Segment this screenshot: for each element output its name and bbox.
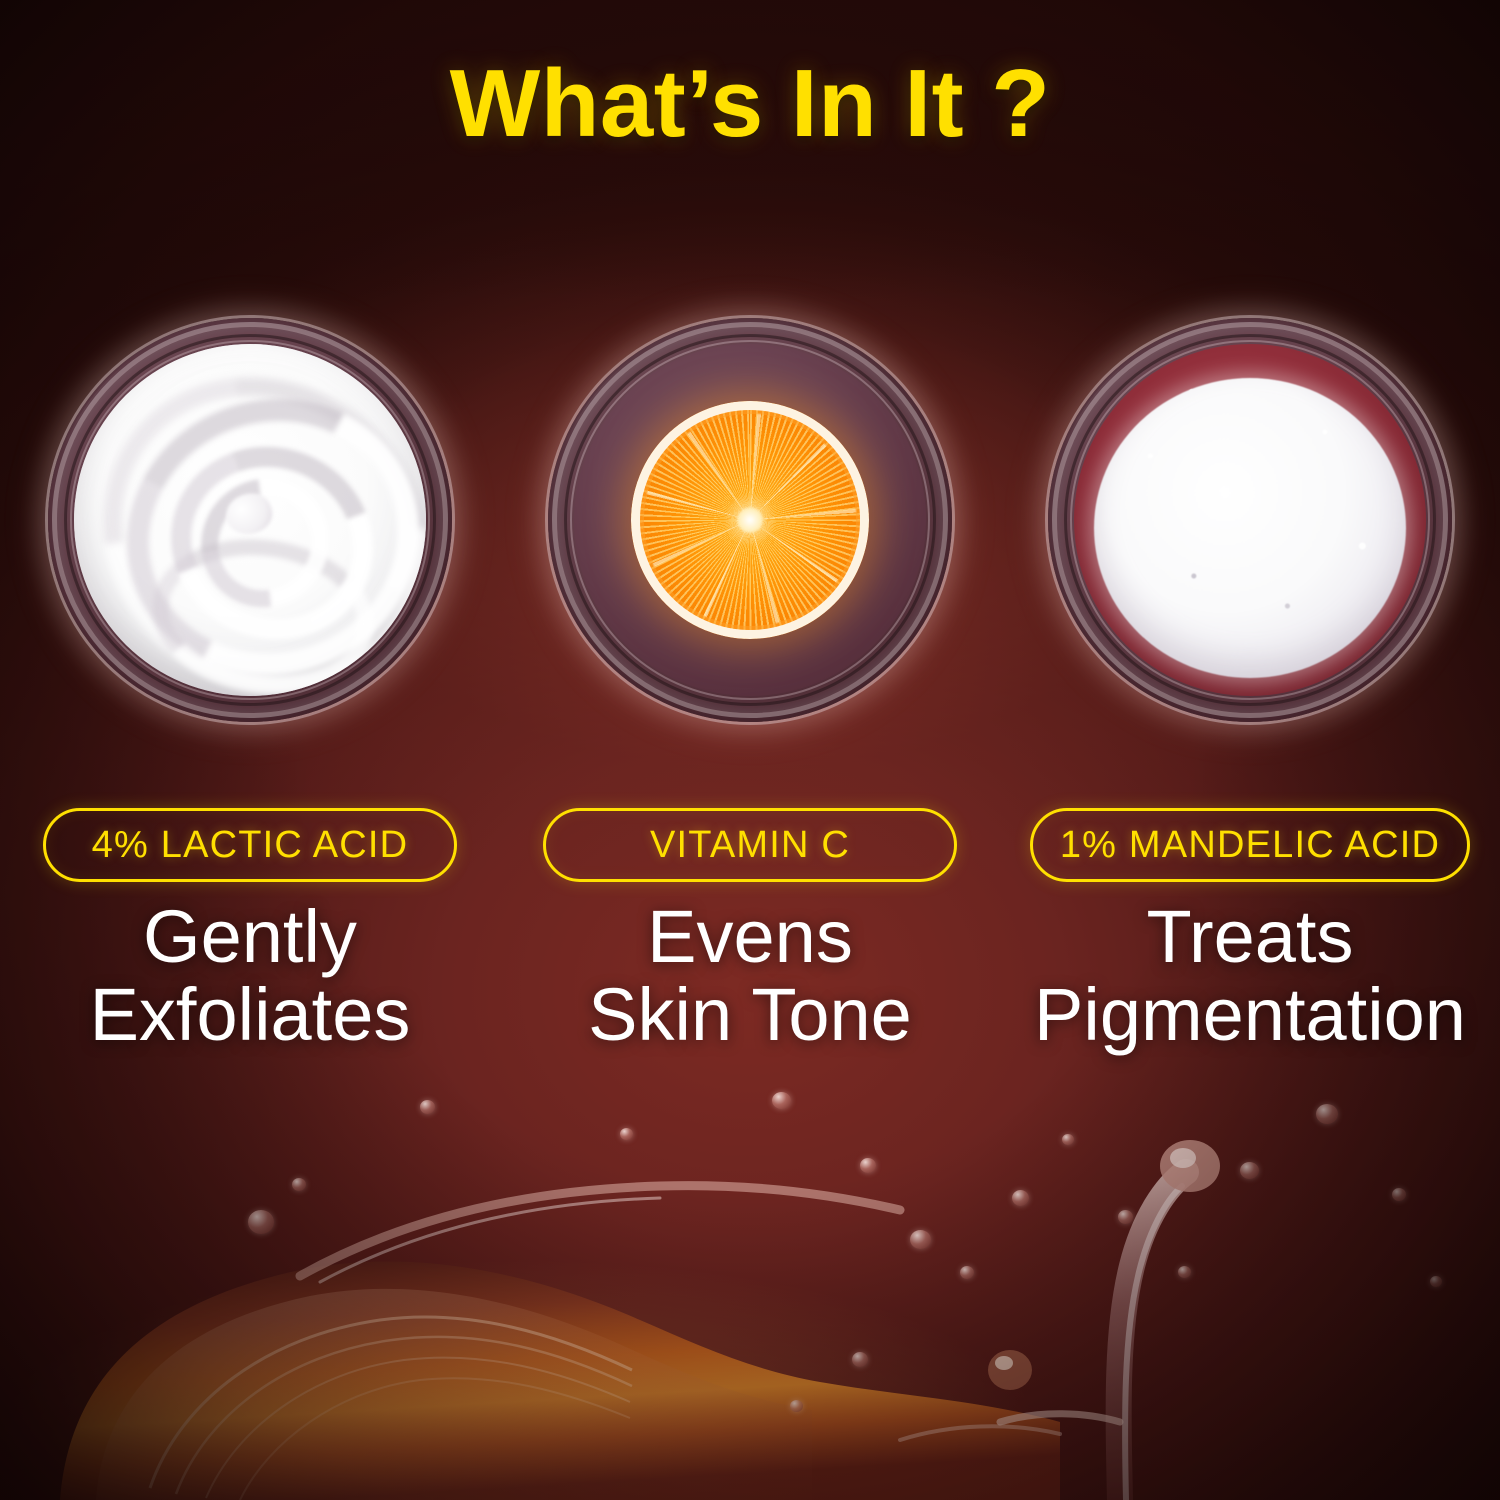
glass-bowl	[1048, 318, 1452, 722]
powder-bowl-image	[1040, 300, 1460, 740]
white-cream-fill	[74, 344, 426, 696]
caption-line: Treats	[1034, 898, 1466, 976]
ingredient-column-mandelic-acid: 1% MANDELIC ACID Treats Pigmentation	[1000, 300, 1500, 1055]
ingredient-column-lactic-acid: 4% LACTIC ACID Gently Exfoliates	[0, 300, 500, 1055]
caption-line: Pigmentation	[1034, 976, 1466, 1054]
ingredient-column-vitamin-c: VITAMIN C Evens Skin Tone	[500, 300, 1000, 1055]
orange-pith-rim	[631, 401, 869, 639]
powder-grain-texture	[1094, 378, 1406, 678]
orange-bowl-image	[540, 300, 960, 740]
ingredient-badge-mandelic-acid: 1% MANDELIC ACID	[1030, 808, 1470, 882]
white-powder-fill	[1094, 378, 1406, 678]
ingredient-caption-vitamin-c: Evens Skin Tone	[588, 898, 912, 1055]
orange-slice	[631, 401, 869, 639]
ingredient-badge-vitamin-c: VITAMIN C	[543, 808, 957, 882]
ingredient-columns: 4% LACTIC ACID Gently Exfoliates	[0, 300, 1500, 1055]
glass-bowl	[548, 318, 952, 722]
caption-line: Skin Tone	[588, 976, 912, 1054]
caption-line: Gently	[90, 898, 411, 976]
glass-bowl	[48, 318, 452, 722]
page-title: What’s In It ?	[0, 56, 1500, 152]
ingredient-badge-lactic-acid: 4% LACTIC ACID	[43, 808, 457, 882]
ingredient-caption-lactic-acid: Gently Exfoliates	[90, 898, 411, 1055]
infographic-canvas: What’s In It ?	[0, 0, 1500, 1500]
caption-line: Exfoliates	[90, 976, 411, 1054]
caption-line: Evens	[588, 898, 912, 976]
ingredient-caption-mandelic-acid: Treats Pigmentation	[1034, 898, 1466, 1055]
cream-bowl-image	[40, 300, 460, 740]
